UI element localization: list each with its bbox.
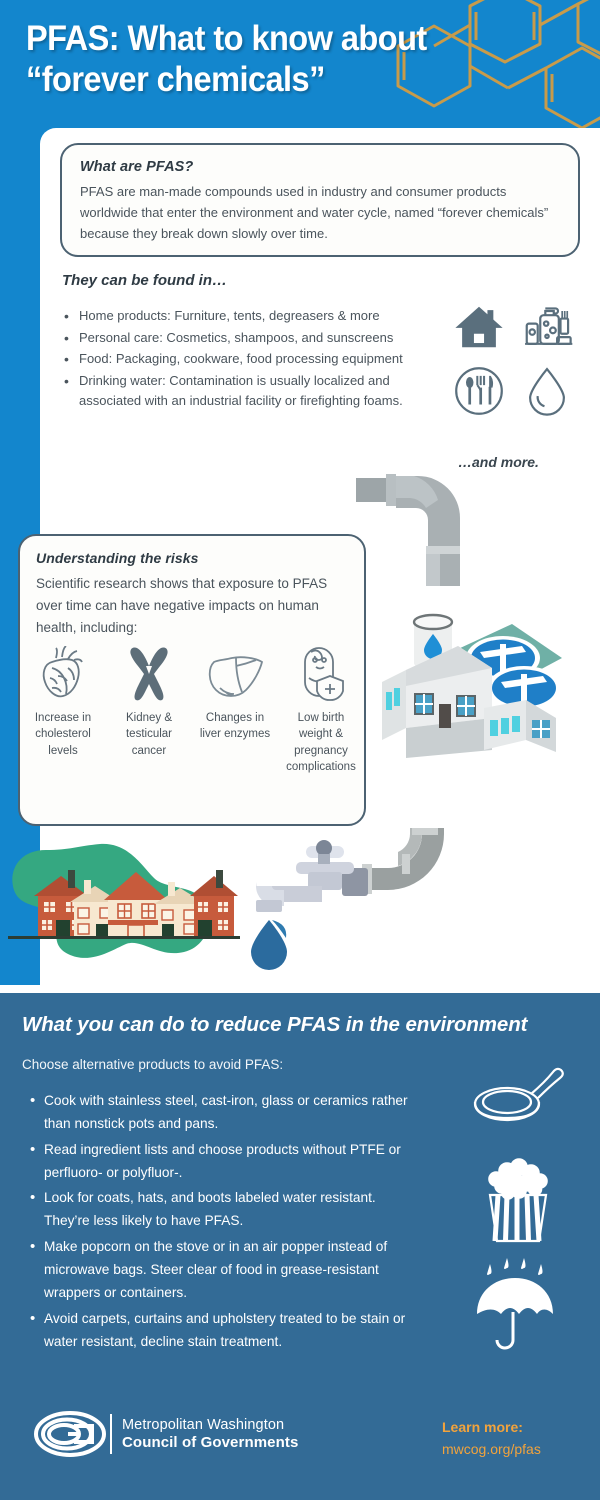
umbrella-rain-icon (452, 1251, 582, 1356)
found-in-heading: They can be found in… (62, 272, 227, 289)
baby-health-icon (280, 640, 362, 702)
reduce-intro: Choose alternative products to avoid PFA… (22, 1057, 283, 1072)
title-line-1: PFAS: What to know about (26, 19, 427, 58)
elbow-pipe-illustration (356, 470, 472, 590)
reduce-pfas-section: What you can do to reduce PFAS in the en… (0, 993, 600, 1500)
title-line-2: “forever chemicals” (26, 59, 463, 100)
mwcog-logo-mark (34, 1411, 106, 1457)
risk-item-cholesterol: Increase in cholesterol levels (22, 640, 104, 775)
risk-item-cancer: Kidney & testicular cancer (108, 640, 190, 775)
list-item: Drinking water: Contamination is usually… (62, 371, 452, 412)
what-are-pfas-heading: What are PFAS? (80, 159, 560, 175)
risks-heading: Understanding the risks (36, 550, 348, 566)
logo-divider (110, 1414, 112, 1454)
list-item: Look for coats, hats, and boots labeled … (30, 1186, 420, 1233)
list-item: Food: Packaging, cookware, food processi… (62, 349, 452, 370)
water-droplet-icon (520, 364, 574, 418)
house-icon (452, 300, 506, 354)
faucet-dripping-illustration (236, 828, 446, 978)
risk-label: Low birth weight & pregnancy complicatio… (280, 710, 362, 775)
risk-item-liver: Changes in liver enzymes (194, 640, 276, 775)
toiletries-icon (520, 300, 574, 354)
reduce-heading: What you can do to reduce PFAS in the en… (22, 1013, 582, 1037)
risk-icon-row: Increase in cholesterol levels Kidney & … (22, 640, 362, 775)
water-treatment-plant-illustration (372, 600, 562, 770)
risk-item-birth: Low birth weight & pregnancy complicatio… (280, 640, 362, 775)
reduce-icon-column (452, 1041, 582, 1356)
reduce-list: Cook with stainless steel, cast-iron, gl… (30, 1089, 420, 1355)
risk-label: Kidney & testicular cancer (108, 710, 190, 759)
heart-icon (22, 640, 104, 702)
list-item: Read ingredient lists and choose product… (30, 1138, 420, 1185)
plate-utensils-icon (452, 364, 506, 418)
found-in-list: Home products: Furniture, tents, degreas… (62, 306, 452, 413)
and-more-label: …and more. (458, 454, 539, 470)
liver-icon (194, 640, 276, 702)
list-item: Make popcorn on the stove or in an air p… (30, 1235, 420, 1305)
learn-more-label: Learn more: (442, 1417, 541, 1439)
risk-label: Changes in liver enzymes (194, 710, 276, 743)
popcorn-icon (452, 1146, 582, 1251)
risks-body: Scientific research shows that exposure … (36, 573, 348, 639)
found-in-icon-grid (452, 300, 582, 428)
page-title: PFAS: What to know about “forever chemic… (26, 18, 463, 101)
list-item: Personal care: Cosmetics, shampoos, and … (62, 328, 452, 349)
org-line-2: Council of Governments (122, 1434, 298, 1452)
risk-label: Increase in cholesterol levels (22, 710, 104, 759)
org-line-1: Metropolitan Washington (122, 1417, 298, 1434)
neighborhood-houses-illustration (8, 832, 240, 972)
what-are-pfas-body: PFAS are man-made compounds used in indu… (80, 181, 560, 245)
learn-more-url[interactable]: mwcog.org/pfas (442, 1439, 541, 1461)
learn-more-block[interactable]: Learn more: mwcog.org/pfas (442, 1417, 541, 1460)
what-are-pfas-box: What are PFAS? PFAS are man-made compoun… (60, 143, 580, 257)
list-item: Avoid carpets, curtains and upholstery t… (30, 1307, 420, 1354)
mwcog-logo[interactable]: Metropolitan Washington Council of Gover… (34, 1411, 298, 1457)
list-item: Home products: Furniture, tents, degreas… (62, 306, 452, 327)
list-item: Cook with stainless steel, cast-iron, gl… (30, 1089, 420, 1136)
frying-pan-icon (452, 1041, 582, 1146)
awareness-ribbon-icon (108, 640, 190, 702)
